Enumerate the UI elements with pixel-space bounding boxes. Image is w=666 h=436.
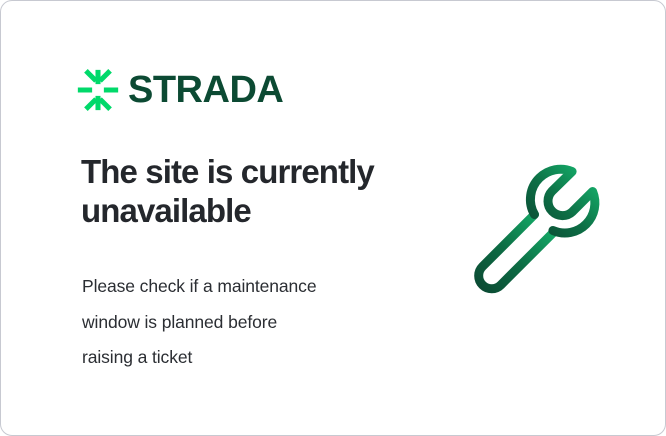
body-line: Please check if a maintenance bbox=[82, 269, 392, 305]
asterisk-star-icon bbox=[77, 69, 119, 111]
brand-logo: STRADA bbox=[77, 69, 283, 111]
maintenance-notice-card: STRADA The site is currently unavailable… bbox=[0, 0, 666, 436]
brand-wordmark: STRADA bbox=[128, 71, 283, 109]
body-line: window is planned before bbox=[82, 305, 392, 341]
page-body-copy: Please check if a maintenance window is … bbox=[82, 269, 392, 376]
wrench-icon bbox=[456, 153, 616, 318]
body-line: raising a ticket bbox=[82, 340, 392, 376]
page-headline: The site is currently unavailable bbox=[81, 153, 411, 231]
